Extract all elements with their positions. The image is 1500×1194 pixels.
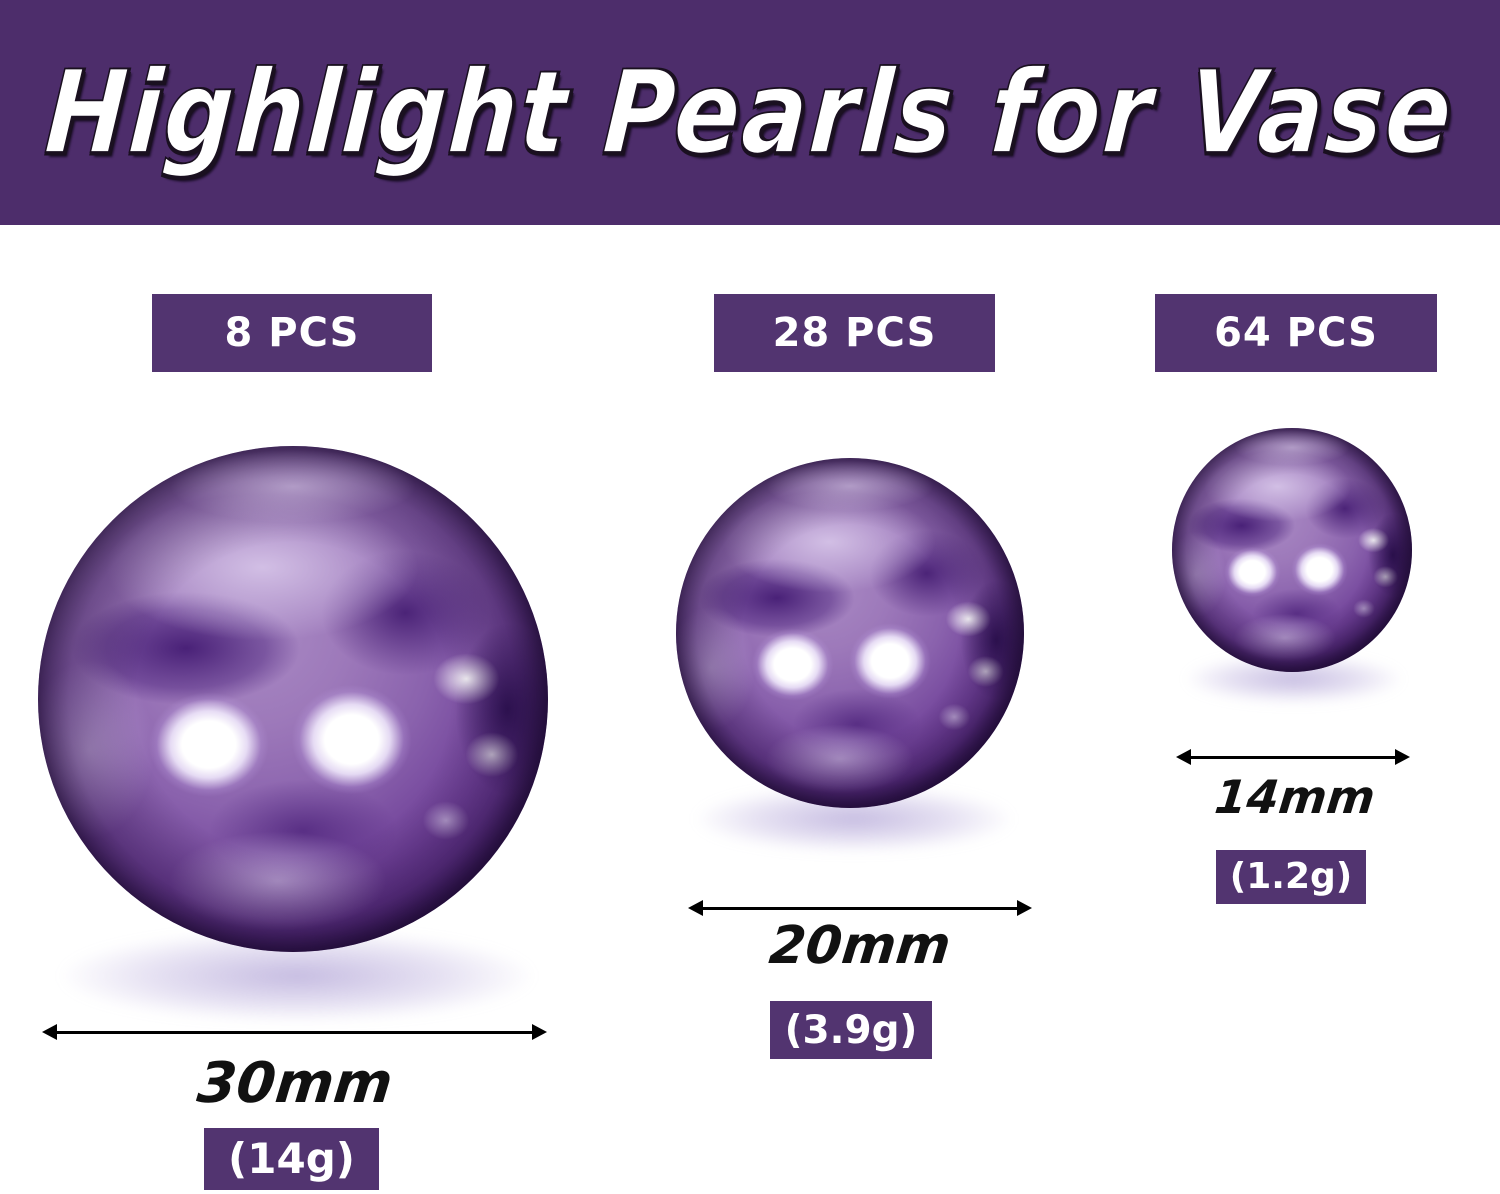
small-pearl-sphere: [1172, 428, 1412, 672]
large-pearl-diameter-label: 30mm: [0, 1056, 593, 1112]
medium-pearl-image: [676, 458, 1024, 808]
arrow-head-right-icon: [1395, 749, 1410, 765]
arrow-line: [51, 1031, 538, 1034]
small-pearl-dimension-arrow: [1176, 748, 1410, 766]
header-banner: Highlight Pearls for Vase: [0, 0, 1500, 225]
arrow-line: [697, 907, 1023, 910]
large-pearl-sphere: [38, 446, 548, 952]
page-title: Highlight Pearls for Vase: [42, 46, 1459, 179]
large-pearl-dimension-arrow: [42, 1023, 547, 1041]
arrow-head-right-icon: [532, 1024, 547, 1040]
arrow-line: [1185, 756, 1401, 759]
medium-pearl-dimension-arrow: [688, 899, 1032, 917]
small-pearl-diameter-label: 14mm: [1168, 774, 1423, 820]
pcs-badge-small: 64 PCS: [1155, 294, 1437, 372]
medium-pearl-weight-badge: (3.9g): [770, 1001, 932, 1059]
large-pearl-weight-badge: (14g): [204, 1128, 379, 1190]
pcs-badge-large: 8 PCS: [152, 294, 432, 372]
medium-pearl-diameter-label: 20mm: [697, 920, 1022, 972]
arrow-head-right-icon: [1017, 900, 1032, 916]
medium-pearl-sphere: [676, 458, 1024, 808]
small-pearl-image: [1172, 428, 1412, 672]
small-pearl-weight-badge: (1.2g): [1216, 850, 1366, 904]
infographic-canvas: Highlight Pearls for Vase 8 PCS 28 PCS 6…: [0, 0, 1500, 1194]
large-pearl-image: [38, 446, 548, 952]
pcs-badge-medium: 28 PCS: [714, 294, 995, 372]
